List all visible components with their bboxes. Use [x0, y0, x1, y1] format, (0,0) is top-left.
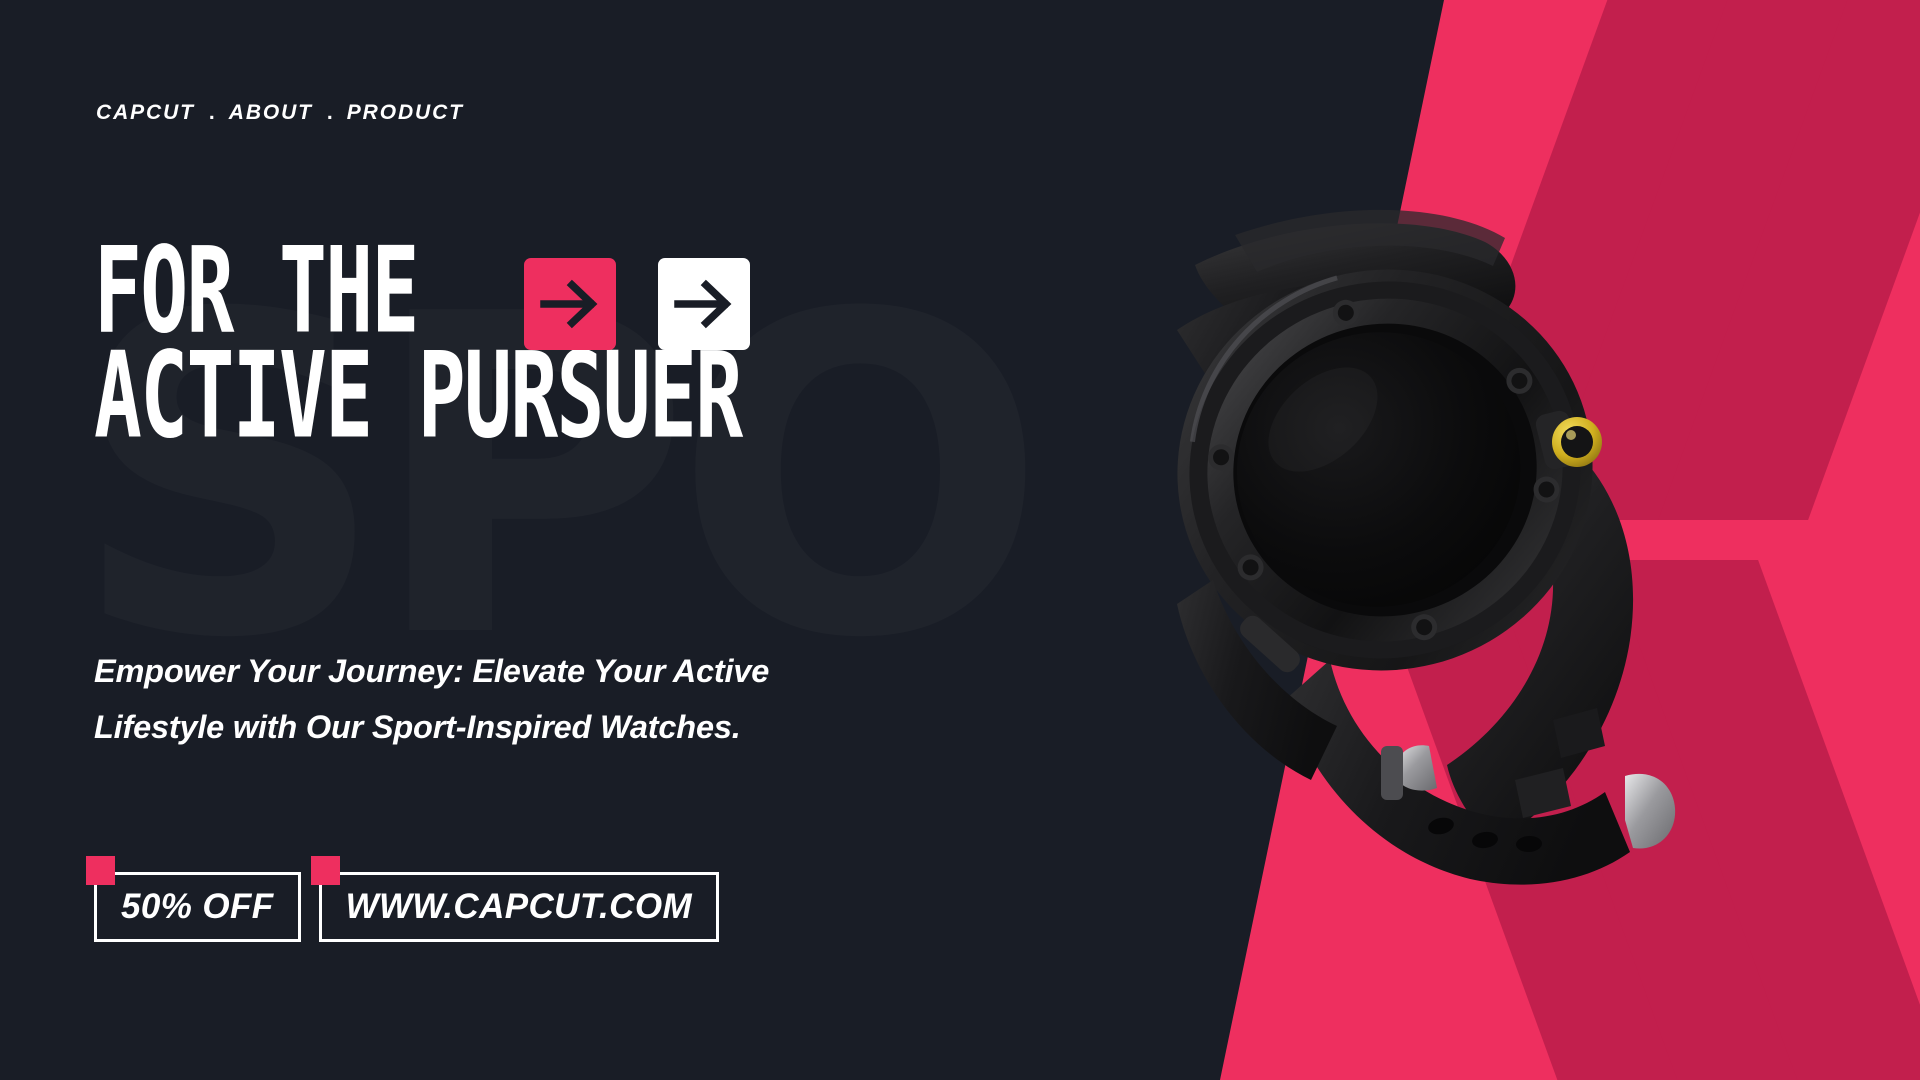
buckle-bar [1381, 746, 1403, 800]
promo-banner: SPO CAPCUT . ABOUT . PRODUCT FOR THE ACT… [0, 0, 1920, 1080]
badge-corner-square [86, 856, 115, 885]
cta-arrow-buttons [524, 258, 750, 350]
badge-website-wrapper: WWW.CAPCUT.COM [319, 872, 719, 942]
nav-item-about[interactable]: ABOUT [229, 101, 313, 125]
product-image-smartwatch [1085, 180, 1785, 900]
nav-item-product[interactable]: PRODUCT [347, 101, 464, 125]
arrow-right-icon [540, 276, 600, 332]
subtitle-line-2: Lifestyle with Our Sport-Inspired Watche… [94, 700, 824, 756]
arrow-right-icon [674, 276, 734, 332]
badge-corner-square [311, 856, 340, 885]
promo-badges: 50% OFF WWW.CAPCUT.COM [94, 872, 719, 942]
arrow-button-secondary[interactable] [658, 258, 750, 350]
crown-glint [1566, 430, 1576, 440]
badge-discount-wrapper: 50% OFF [94, 872, 301, 942]
top-navigation: CAPCUT . ABOUT . PRODUCT [96, 101, 464, 125]
buckle-tip [1625, 774, 1675, 849]
hero-subtitle: Empower Your Journey: Elevate Your Activ… [94, 644, 824, 756]
badge-website-label: WWW.CAPCUT.COM [346, 887, 692, 927]
subtitle-line-1: Empower Your Journey: Elevate Your Activ… [94, 644, 824, 700]
nav-item-capcut[interactable]: CAPCUT [96, 101, 195, 125]
arrow-button-primary[interactable] [524, 258, 616, 350]
headline-line-2: ACTIVE PURSUER [94, 338, 741, 454]
badge-discount[interactable]: 50% OFF [94, 872, 301, 942]
badge-discount-label: 50% OFF [121, 887, 274, 927]
badge-website[interactable]: WWW.CAPCUT.COM [319, 872, 719, 942]
crown-center [1561, 426, 1593, 458]
hero-headline: FOR THE ACTIVE PURSUER [94, 243, 884, 443]
nav-separator-1: . [195, 101, 229, 125]
nav-separator-2: . [313, 101, 347, 125]
